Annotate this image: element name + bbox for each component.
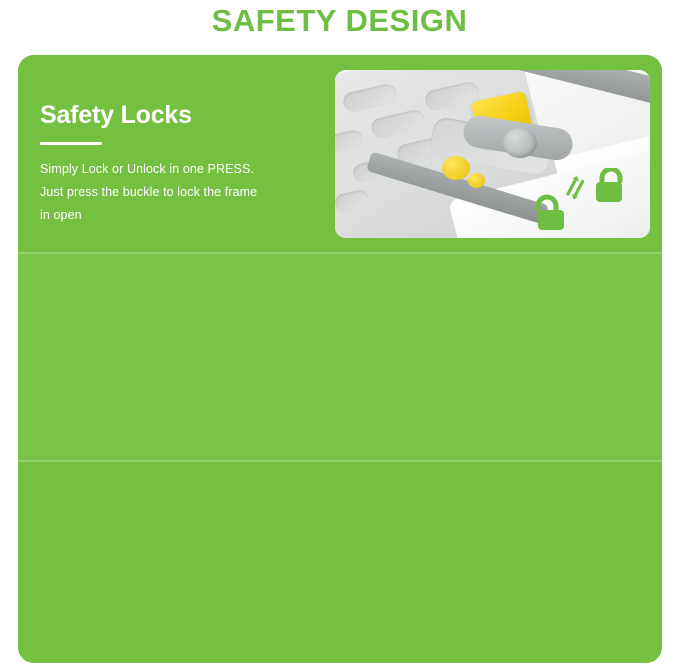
lock-unlock-icons [532, 168, 642, 234]
toggle-arrows-icon [564, 175, 587, 201]
unlock-icon [538, 197, 564, 230]
body-line: in open [40, 204, 330, 227]
feature-card-stack: Safety Locks Simply Lock or Unlock in on… [18, 55, 662, 663]
feature-panel-easy-to-clean: Easy to Clean Special tabletop texture m… [18, 462, 662, 663]
page-title: SAFETY DESIGN [0, 0, 679, 42]
body-line: Just press the buckle to lock the frame [40, 181, 330, 204]
text-block-safety-locks: Safety Locks Simply Lock or Unlock in on… [40, 100, 330, 227]
heading-rule [40, 142, 102, 145]
safety-lock-buckle-photo [335, 70, 650, 238]
body-text-safety-locks: Simply Lock or Unlock in one PRESS. Just… [40, 158, 330, 227]
safety-design-infographic: SAFETY DESIGN Safety Locks Simply Lock o… [0, 0, 679, 666]
feature-panel-anti-folding-lock: Safety anti-folding lock When the table … [18, 254, 662, 460]
unlock-icon [596, 169, 622, 202]
feature-panel-safety-locks: Safety Locks Simply Lock or Unlock in on… [18, 55, 662, 252]
body-line: Simply Lock or Unlock in one PRESS. [40, 158, 330, 181]
heading-safety-locks: Safety Locks [40, 100, 330, 130]
